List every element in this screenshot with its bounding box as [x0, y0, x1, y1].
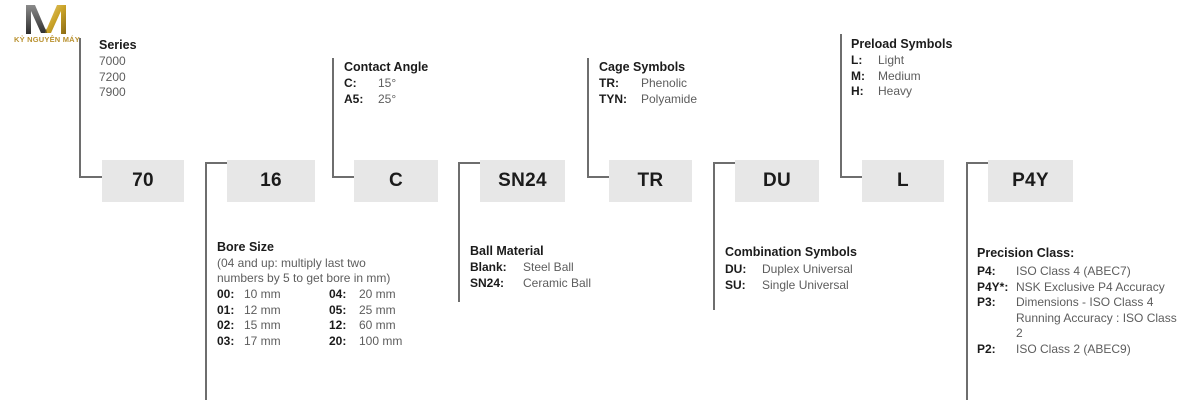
- bore-size-row: 12: 60 mm: [329, 318, 402, 334]
- row-value: Single Universal: [762, 278, 849, 294]
- bore-size-row: 00: 10 mm: [217, 287, 329, 303]
- bore-size-row: 05: 25 mm: [329, 303, 402, 319]
- bore-size-row: 04: 20 mm: [329, 287, 402, 303]
- preload-symbol-row: M: Medium: [851, 69, 952, 85]
- series-value: 7000: [99, 54, 137, 70]
- precision-class-row: P3: Dimensions - ISO Class 4 Running Acc…: [977, 295, 1189, 342]
- nomenclature-diagram: KỶ NGUYÊN MÁY 70 16 C SN24 TR DU L P4Y S…: [0, 0, 1200, 400]
- bore-size-note-line-2: numbers by 5 to get bore in mm): [217, 271, 402, 286]
- connector-contact-angle-foot: [332, 176, 354, 178]
- brand-logo: KỶ NGUYÊN MÁY: [4, 2, 90, 48]
- callout-ball-material-title: Ball Material: [470, 244, 591, 258]
- connector-precision-head: [966, 162, 988, 164]
- connector-combination: [713, 162, 715, 310]
- row-key: A5:: [344, 92, 378, 108]
- preload-symbol-row: L: Light: [851, 53, 952, 69]
- connector-contact-angle: [332, 58, 334, 178]
- connector-preload-foot: [840, 176, 862, 178]
- series-value: 7200: [99, 70, 137, 86]
- connector-combination-head: [713, 162, 735, 164]
- brand-name: KỶ NGUYÊN MÁY: [4, 35, 90, 44]
- bore-size-row: 03: 17 mm: [217, 334, 329, 350]
- bore-size-row: 01: 12 mm: [217, 303, 329, 319]
- connector-preload: [840, 34, 842, 178]
- cage-symbol-row: TYN: Polyamide: [599, 92, 697, 108]
- row-value: Phenolic: [641, 76, 687, 92]
- precision-class-row: P4: ISO Class 4 (ABEC7): [977, 264, 1189, 280]
- row-key: 01:: [217, 303, 244, 319]
- contact-angle-row: C: 15°: [344, 76, 428, 92]
- ball-material-row: Blank: Steel Ball: [470, 260, 591, 276]
- contact-angle-row: A5: 25°: [344, 92, 428, 108]
- connector-ball-material: [458, 162, 460, 302]
- callout-series: Series 7000 7200 7900: [99, 38, 137, 101]
- row-key: SU:: [725, 278, 762, 294]
- row-value: 12 mm: [244, 303, 281, 319]
- code-box-bore-size[interactable]: 16: [227, 160, 315, 202]
- row-value: Duplex Universal: [762, 262, 853, 278]
- combination-symbol-row: DU: Duplex Universal: [725, 262, 857, 278]
- combination-symbol-row: SU: Single Universal: [725, 278, 857, 294]
- callout-bore-size-title: Bore Size: [217, 240, 402, 254]
- code-box-precision[interactable]: P4Y: [988, 160, 1073, 202]
- row-key: 04:: [329, 287, 359, 303]
- row-key: 12:: [329, 318, 359, 334]
- row-key: SN24:: [470, 276, 523, 292]
- callout-preload-symbols: Preload Symbols L: Light M: Medium H: He…: [851, 37, 952, 100]
- code-box-preload[interactable]: L: [862, 160, 944, 202]
- connector-bore: [205, 162, 207, 400]
- row-key: H:: [851, 84, 878, 100]
- row-value: ISO Class 4 (ABEC7): [1016, 264, 1131, 280]
- callout-series-title: Series: [99, 38, 137, 52]
- connector-series: [79, 38, 81, 178]
- row-value: 17 mm: [244, 334, 281, 350]
- row-value: 25 mm: [359, 303, 396, 319]
- row-value: Polyamide: [641, 92, 697, 108]
- precision-class-row: P4Y*: NSK Exclusive P4 Accuracy: [977, 280, 1189, 296]
- letter-m-logo-icon: [4, 2, 90, 38]
- connector-ball-material-head: [458, 162, 480, 164]
- row-key: 03:: [217, 334, 244, 350]
- row-value: Light: [878, 53, 904, 69]
- callout-bore-size: Bore Size (04 and up: multiply last two …: [217, 240, 402, 349]
- connector-cage-foot: [587, 176, 609, 178]
- row-key: P2:: [977, 342, 1016, 358]
- row-value: ISO Class 2 (ABEC9): [1016, 342, 1131, 358]
- row-value: Dimensions - ISO Class 4 Running Accurac…: [1016, 295, 1184, 342]
- connector-series-foot: [79, 176, 102, 178]
- row-key: P4:: [977, 264, 1016, 280]
- row-value: Steel Ball: [523, 260, 574, 276]
- row-value: 25°: [378, 92, 396, 108]
- series-value: 7900: [99, 85, 137, 101]
- code-box-cage[interactable]: TR: [609, 160, 692, 202]
- callout-combination-symbols-title: Combination Symbols: [725, 245, 857, 259]
- code-box-contact-angle[interactable]: C: [354, 160, 438, 202]
- row-key: Blank:: [470, 260, 523, 276]
- bore-size-row: 20: 100 mm: [329, 334, 402, 350]
- row-key: C:: [344, 76, 378, 92]
- row-value: Ceramic Ball: [523, 276, 591, 292]
- connector-precision: [966, 162, 968, 400]
- connector-bore-head: [205, 162, 227, 164]
- bore-size-column-left: 00: 10 mm 01: 12 mm 02: 15 mm 03: 17 mm: [217, 287, 329, 349]
- callout-contact-angle-title: Contact Angle: [344, 60, 428, 74]
- callout-contact-angle: Contact Angle C: 15° A5: 25°: [344, 60, 428, 107]
- row-key: DU:: [725, 262, 762, 278]
- row-key: P3:: [977, 295, 1016, 342]
- row-key: 20:: [329, 334, 359, 350]
- callout-precision-class-title: Precision Class:: [977, 246, 1189, 260]
- row-value: NSK Exclusive P4 Accuracy: [1016, 280, 1165, 296]
- callout-combination-symbols: Combination Symbols DU: Duplex Universal…: [725, 245, 857, 293]
- code-box-ball-material[interactable]: SN24: [480, 160, 565, 202]
- code-box-series[interactable]: 70: [102, 160, 184, 202]
- code-box-combination[interactable]: DU: [735, 160, 819, 202]
- row-key: L:: [851, 53, 878, 69]
- callout-cage-symbols-title: Cage Symbols: [599, 60, 697, 74]
- row-key: TR:: [599, 76, 641, 92]
- row-value: 15°: [378, 76, 396, 92]
- row-key: TYN:: [599, 92, 641, 108]
- callout-preload-symbols-title: Preload Symbols: [851, 37, 952, 51]
- callout-ball-material: Ball Material Blank: Steel Ball SN24: Ce…: [470, 244, 591, 291]
- connector-cage: [587, 58, 589, 178]
- row-value: 20 mm: [359, 287, 396, 303]
- row-value: Medium: [878, 69, 921, 85]
- precision-class-row: P2: ISO Class 2 (ABEC9): [977, 342, 1189, 358]
- row-key: 00:: [217, 287, 244, 303]
- callout-cage-symbols: Cage Symbols TR: Phenolic TYN: Polyamide: [599, 60, 697, 107]
- row-key: 05:: [329, 303, 359, 319]
- bore-size-column-right: 04: 20 mm 05: 25 mm 12: 60 mm 20: 100 mm: [329, 287, 402, 349]
- row-value: Heavy: [878, 84, 912, 100]
- row-key: 02:: [217, 318, 244, 334]
- row-key: P4Y*:: [977, 280, 1016, 296]
- row-value: 10 mm: [244, 287, 281, 303]
- bore-size-note-line-1: (04 and up: multiply last two: [217, 256, 402, 271]
- callout-precision-class: Precision Class: P4: ISO Class 4 (ABEC7)…: [977, 246, 1189, 357]
- preload-symbol-row: H: Heavy: [851, 84, 952, 100]
- row-value: 15 mm: [244, 318, 281, 334]
- row-value: 100 mm: [359, 334, 402, 350]
- row-key: M:: [851, 69, 878, 85]
- ball-material-row: SN24: Ceramic Ball: [470, 276, 591, 292]
- cage-symbol-row: TR: Phenolic: [599, 76, 697, 92]
- bore-size-row: 02: 15 mm: [217, 318, 329, 334]
- row-value: 60 mm: [359, 318, 396, 334]
